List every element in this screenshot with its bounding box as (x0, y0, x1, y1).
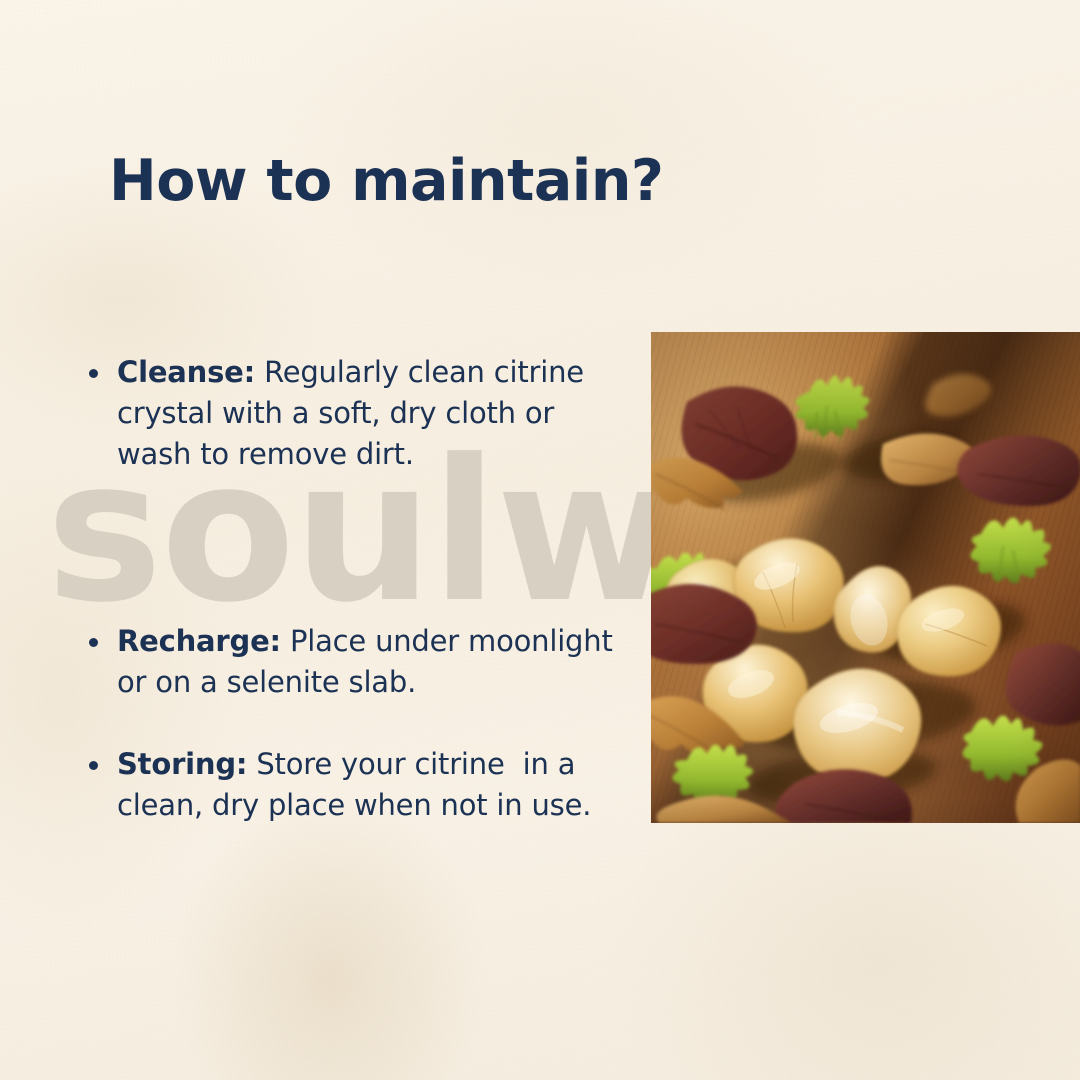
photo-vignette (651, 332, 1080, 823)
list-item-cleanse: Cleanse: Regularly clean citrine crystal… (84, 352, 614, 475)
citrine-photo (651, 332, 1080, 823)
slide-canvas: soulw How to maintain? Cleanse: Regularl… (0, 0, 1080, 1080)
maintenance-tips-list: Cleanse: Regularly clean citrine crystal… (84, 352, 614, 826)
tip-label-recharge: Recharge: (117, 624, 281, 658)
list-item-storing: Storing: Store your citrine in a clean, … (84, 744, 614, 826)
page-title: How to maintain? (109, 152, 664, 212)
tip-label-cleanse: Cleanse: (117, 355, 255, 389)
tip-label-storing: Storing: (117, 747, 247, 781)
list-item-recharge: Recharge: Place under moonlight or on a … (84, 621, 614, 703)
